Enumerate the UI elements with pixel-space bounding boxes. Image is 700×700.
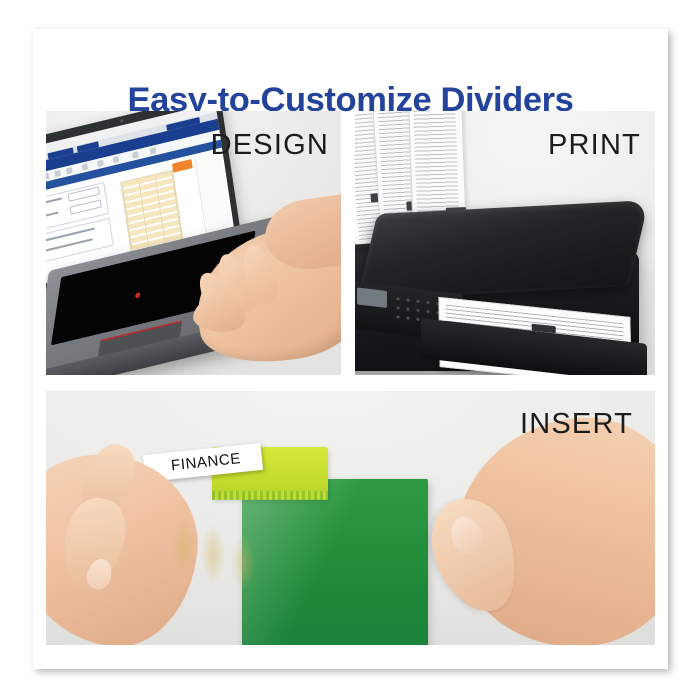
- panel-label-design: DESIGN: [211, 129, 329, 162]
- panel-label-insert: INSERT: [520, 408, 633, 441]
- screenshot-canvas: Easy-to-Customize Dividers: [0, 0, 700, 700]
- panel-insert: FINANCE INSERT: [46, 391, 655, 645]
- panel-label-print: PRINT: [548, 129, 641, 162]
- panel-print: PRINT: [355, 111, 655, 375]
- panel-design: DESIGN: [46, 111, 341, 375]
- green-divider-sheet: [242, 479, 428, 645]
- preview-sidebar: [194, 152, 232, 239]
- highlight-badge: [172, 159, 193, 173]
- tab-pocket-opening: [212, 491, 328, 500]
- right-hand: [445, 407, 655, 645]
- thumb: [420, 488, 530, 622]
- label-strip-text: FINANCE: [170, 450, 241, 474]
- printer-lcd-display: [357, 287, 387, 308]
- thumb: [193, 297, 246, 333]
- product-image-card: Easy-to-Customize Dividers: [33, 29, 668, 669]
- printer-scanner-lid: [357, 200, 649, 300]
